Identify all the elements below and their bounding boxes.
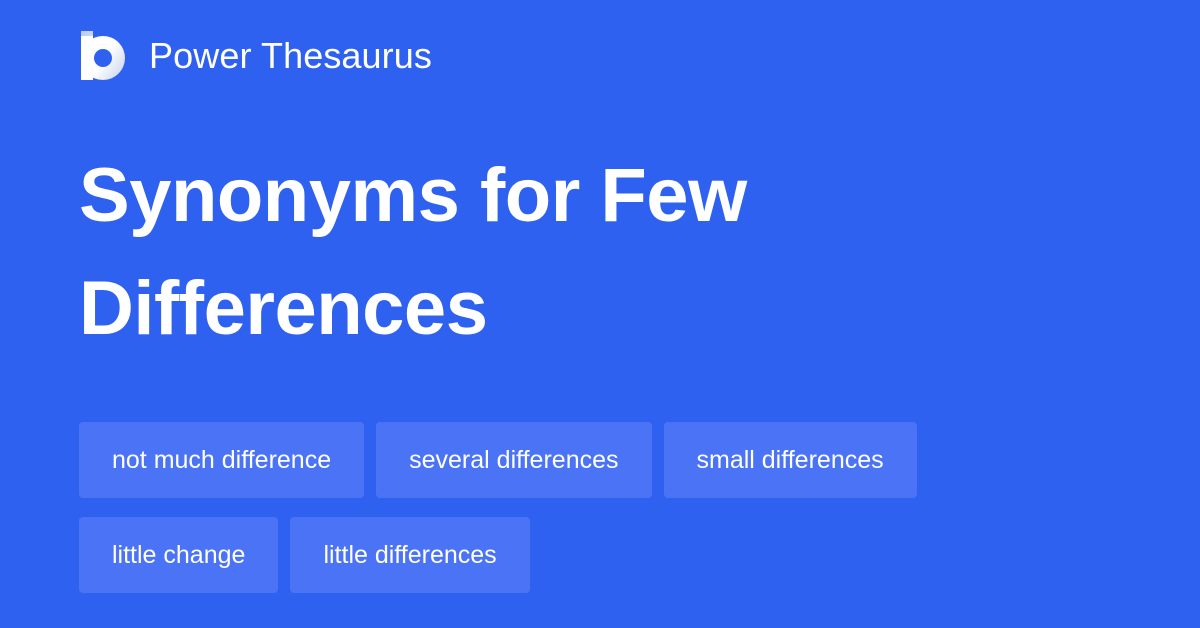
synonym-chip-label: little change — [112, 543, 245, 568]
power-thesaurus-b-logo-icon — [79, 30, 127, 82]
brand-name: Power Thesaurus — [149, 38, 432, 74]
synonym-chip-label: little differences — [323, 543, 496, 568]
share-card: Power Thesaurus Synonyms for Few Differe… — [0, 0, 1200, 628]
synonym-chip-label: several differences — [409, 448, 618, 473]
synonym-chip[interactable]: little change — [79, 517, 278, 593]
synonym-chip[interactable]: small differences — [664, 422, 917, 498]
page-title-line-2: Differences — [79, 252, 1119, 365]
synonym-chip[interactable]: several differences — [376, 422, 651, 498]
page-title: Synonyms for Few Differences — [79, 139, 1119, 365]
synonym-chip[interactable]: not much difference — [79, 422, 364, 498]
synonym-chip[interactable]: little differences — [290, 517, 529, 593]
brand-header[interactable]: Power Thesaurus — [79, 28, 432, 84]
page-title-line-1: Synonyms for Few — [79, 139, 1119, 252]
synonym-chip-label: not much difference — [112, 448, 331, 473]
synonym-chip-list: not much difference several differences … — [79, 422, 1121, 593]
synonym-chip-label: small differences — [697, 448, 884, 473]
